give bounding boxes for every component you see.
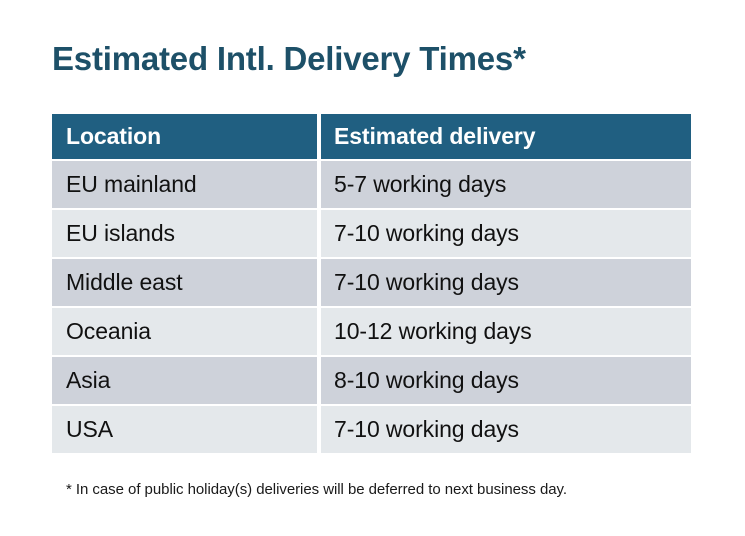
table-header-row: Location Estimated delivery: [52, 114, 691, 159]
cell-estimated-delivery: 7-10 working days: [321, 210, 691, 257]
cell-location: Asia: [52, 357, 317, 404]
table-row: Asia 8-10 working days: [52, 357, 691, 404]
cell-estimated-delivery: 5-7 working days: [321, 161, 691, 208]
cell-location: Oceania: [52, 308, 317, 355]
cell-location: EU islands: [52, 210, 317, 257]
column-header-location: Location: [52, 114, 317, 159]
cell-estimated-delivery: 10-12 working days: [321, 308, 691, 355]
footnote-text: * In case of public holiday(s) deliverie…: [66, 481, 567, 498]
table-row: USA 7-10 working days: [52, 406, 691, 453]
cell-estimated-delivery: 8-10 working days: [321, 357, 691, 404]
table-row: Middle east 7-10 working days: [52, 259, 691, 306]
estimated-delivery-table: Location Estimated delivery EU mainland …: [52, 114, 691, 455]
cell-location: USA: [52, 406, 317, 453]
cell-location: Middle east: [52, 259, 317, 306]
table-row: Oceania 10-12 working days: [52, 308, 691, 355]
delivery-times-page: Estimated Intl. Delivery Times* Location…: [0, 0, 745, 536]
table-row: EU islands 7-10 working days: [52, 210, 691, 257]
cell-estimated-delivery: 7-10 working days: [321, 406, 691, 453]
cell-location: EU mainland: [52, 161, 317, 208]
cell-estimated-delivery: 7-10 working days: [321, 259, 691, 306]
page-title: Estimated Intl. Delivery Times*: [52, 38, 526, 80]
column-header-estimated-delivery: Estimated delivery: [321, 114, 691, 159]
table-row: EU mainland 5-7 working days: [52, 161, 691, 208]
